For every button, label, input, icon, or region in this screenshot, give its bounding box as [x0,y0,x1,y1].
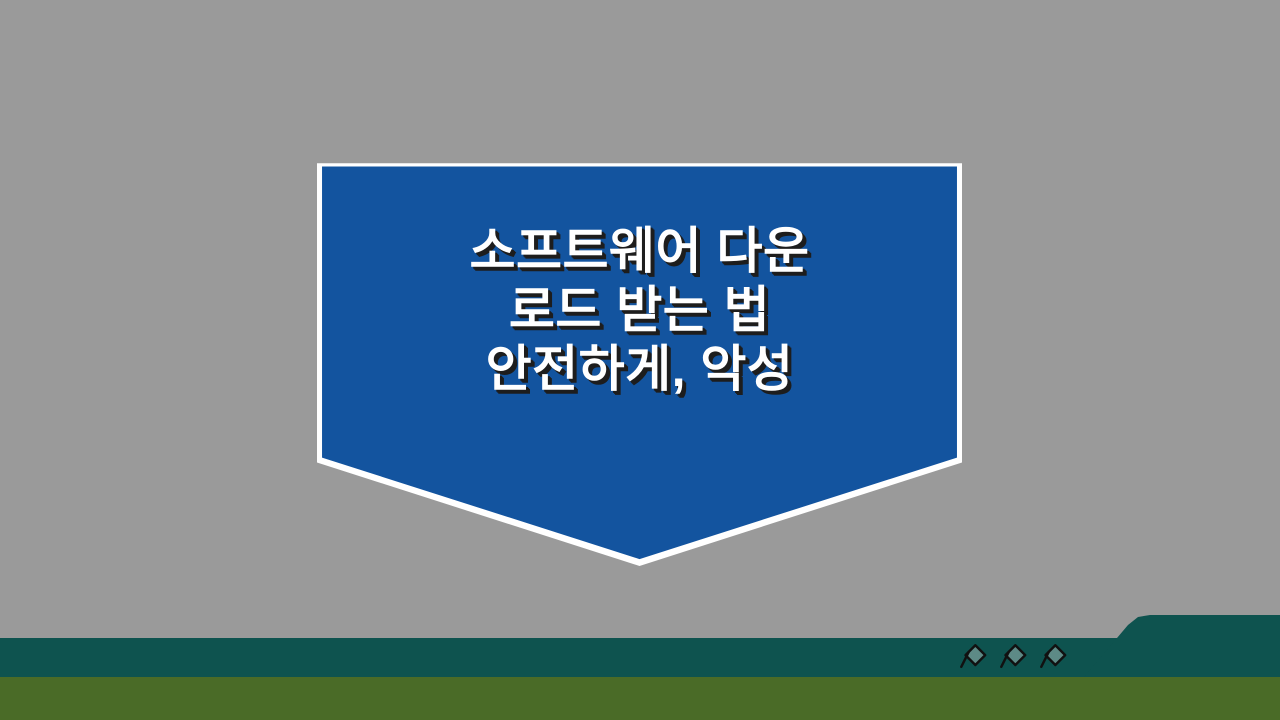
footer-teal-band [0,638,1280,677]
title-banner: 소프트웨어 다운 로드 받는 법 안전하게, 악성 [317,160,962,566]
footer-icon-row [958,642,1068,672]
slide-canvas: 소프트웨어 다운 로드 받는 법 안전하게, 악성 [0,0,1280,720]
pushpin-icon-1 [958,642,988,672]
footer-green-band [0,677,1280,720]
pushpin-icon-2 [998,642,1028,672]
banner-fill [317,160,962,566]
pushpin-icon-3 [1038,642,1068,672]
